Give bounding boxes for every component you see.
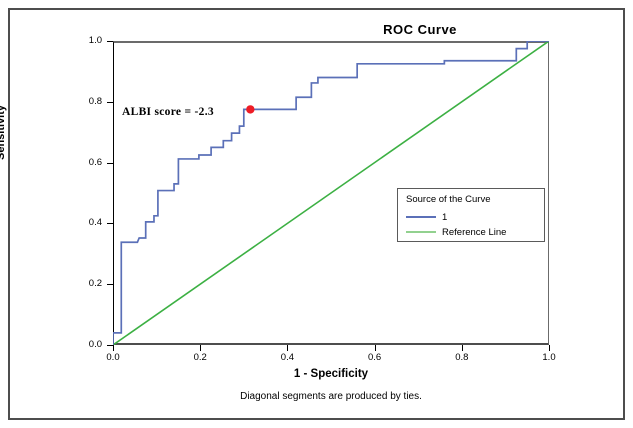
y-tick-mark	[107, 223, 113, 224]
y-tick-label: 0.2	[68, 278, 102, 289]
annotation-point-marker	[246, 105, 254, 113]
x-tick-mark	[549, 345, 550, 351]
legend-swatch-curve	[406, 216, 436, 218]
x-tick-label: 0.0	[93, 352, 133, 363]
x-tick-mark	[287, 345, 288, 351]
x-tick-label: 1.0	[529, 352, 569, 363]
y-tick-label: 0.4	[68, 217, 102, 228]
legend-swatch-reference	[406, 231, 436, 233]
legend-entry-curve: 1	[406, 210, 447, 224]
x-tick-mark	[375, 345, 376, 351]
y-tick-mark	[107, 41, 113, 42]
albi-score-annotation: ALBI score = -2.3	[122, 106, 214, 118]
chart-title: ROC Curve	[300, 22, 540, 37]
x-tick-label: 0.4	[267, 352, 307, 363]
y-tick-label: 1.0	[68, 35, 102, 46]
y-tick-label: 0.6	[68, 157, 102, 168]
y-tick-mark	[107, 102, 113, 103]
x-tick-mark	[113, 345, 114, 351]
legend-label-reference: Reference Line	[442, 227, 506, 238]
y-tick-label: 0.0	[68, 339, 102, 350]
x-tick-label: 0.2	[180, 352, 220, 363]
x-tick-label: 0.6	[355, 352, 395, 363]
y-tick-label: 0.8	[68, 96, 102, 107]
x-tick-label: 0.8	[442, 352, 482, 363]
x-axis-title: 1 - Specificity	[113, 368, 549, 380]
legend-entry-reference: Reference Line	[406, 225, 506, 239]
legend: Source of the Curve 1 Reference Line	[397, 188, 545, 242]
chart-canvas: ROC Curve 0.00.20.40.60.81.0 0.00.20.40.…	[0, 0, 633, 428]
legend-label-curve: 1	[442, 212, 447, 223]
x-tick-mark	[462, 345, 463, 351]
x-tick-mark	[200, 345, 201, 351]
y-tick-mark	[107, 163, 113, 164]
roc-curve-screenshot: ROC Curve 0.00.20.40.60.81.0 0.00.20.40.…	[0, 0, 633, 428]
legend-title: Source of the Curve	[406, 194, 491, 205]
y-axis-title: Sensitivity	[0, 105, 7, 160]
y-tick-mark	[107, 284, 113, 285]
chart-footnote: Diagonal segments are produced by ties.	[113, 391, 549, 402]
